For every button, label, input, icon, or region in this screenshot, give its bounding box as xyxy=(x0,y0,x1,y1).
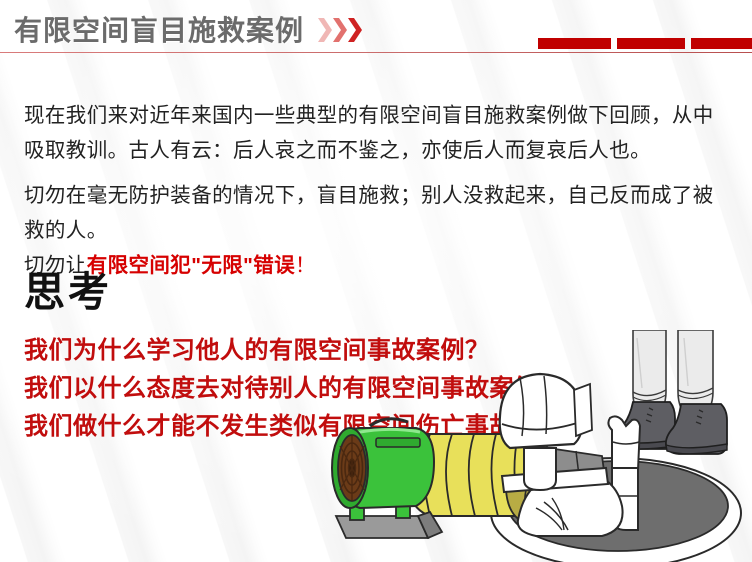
paragraph-intro: 现在我们来对近年来国内一些典型的有限空间盲目施救案例做下回顾，从中吸取教训。古人… xyxy=(24,98,724,168)
header-divider-line xyxy=(0,52,752,53)
header-bar: 有限空间盲目施救案例 xyxy=(0,0,752,56)
standing-person-legs-icon xyxy=(633,330,713,408)
ventilation-blower-fan-icon xyxy=(332,419,442,538)
paragraph-warning-line-2: 切勿让有限空间犯"无限"错误！ xyxy=(24,248,724,283)
paragraph-warning-line-1: 切勿在毫无防护装备的情况下，盲目施救；别人没救起来，自己反而成了被救的人。 xyxy=(24,178,724,248)
chevron-right-icon xyxy=(348,18,363,42)
page-title: 有限空间盲目施救案例 xyxy=(14,9,304,49)
paragraph-warning-highlight: 有限空间犯"无限"错误 xyxy=(87,254,295,277)
paragraph-warning: 切勿在毫无防护装备的情况下，盲目施救；别人没救起来，自己反而成了被救的人。 切勿… xyxy=(24,178,724,283)
body-copy: 现在我们来对近年来国内一些典型的有限空间盲目施救案例做下回顾，从中吸取教训。古人… xyxy=(24,98,724,283)
paragraph-warning-suffix: ！ xyxy=(295,254,316,277)
slide-canvas: 有限空间盲目施救案例 xyxy=(0,0,752,562)
header-accent-block xyxy=(691,38,752,49)
chevron-right-icon xyxy=(333,18,348,42)
header-accent-blocks xyxy=(538,38,752,49)
header-accent-block xyxy=(617,38,685,49)
chevron-right-icon xyxy=(318,18,333,42)
section-heading-think: 思考 xyxy=(24,258,112,318)
confined-space-ventilation-illustration xyxy=(330,330,752,562)
header-accent-block xyxy=(538,38,611,49)
chevron-right-triple-icon xyxy=(318,18,384,42)
